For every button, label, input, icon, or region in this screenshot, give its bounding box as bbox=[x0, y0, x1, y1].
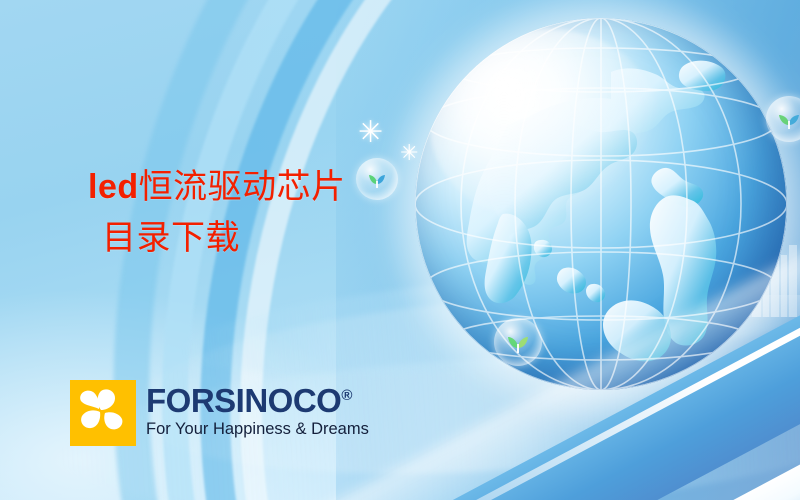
bubble-with-leaf-middle bbox=[494, 318, 542, 366]
registered-trademark-symbol: ® bbox=[341, 387, 352, 404]
brand-name-word: FORSINOCO bbox=[146, 382, 341, 419]
brand-logo: FORSINOCO® For Your Happiness & Dreams bbox=[70, 380, 369, 446]
floret-small: ✳ bbox=[400, 142, 418, 164]
leaf-icon bbox=[505, 329, 531, 355]
headline-line-2: 目录下载 bbox=[88, 213, 418, 264]
brand-tagline: For Your Happiness & Dreams bbox=[146, 420, 369, 439]
floret-large: ✳ bbox=[358, 118, 383, 148]
page-title: led恒流驱动芯片 目录下载 bbox=[88, 162, 418, 264]
brand-logo-text: FORSINOCO® For Your Happiness & Dreams bbox=[146, 380, 369, 439]
headline-cjk: 恒流驱动芯片 bbox=[139, 169, 346, 206]
brand-name: FORSINOCO® bbox=[146, 384, 369, 417]
headline-line-1: led恒流驱动芯片 bbox=[88, 162, 418, 213]
pinwheel-flower-icon bbox=[70, 380, 136, 446]
globe-highlight bbox=[430, 29, 661, 222]
leaf-icon bbox=[777, 107, 800, 131]
banner-canvas: ✳ ✳ led恒流驱动芯片 目录下载 bbox=[0, 0, 800, 500]
headline-latin: led bbox=[88, 168, 139, 206]
